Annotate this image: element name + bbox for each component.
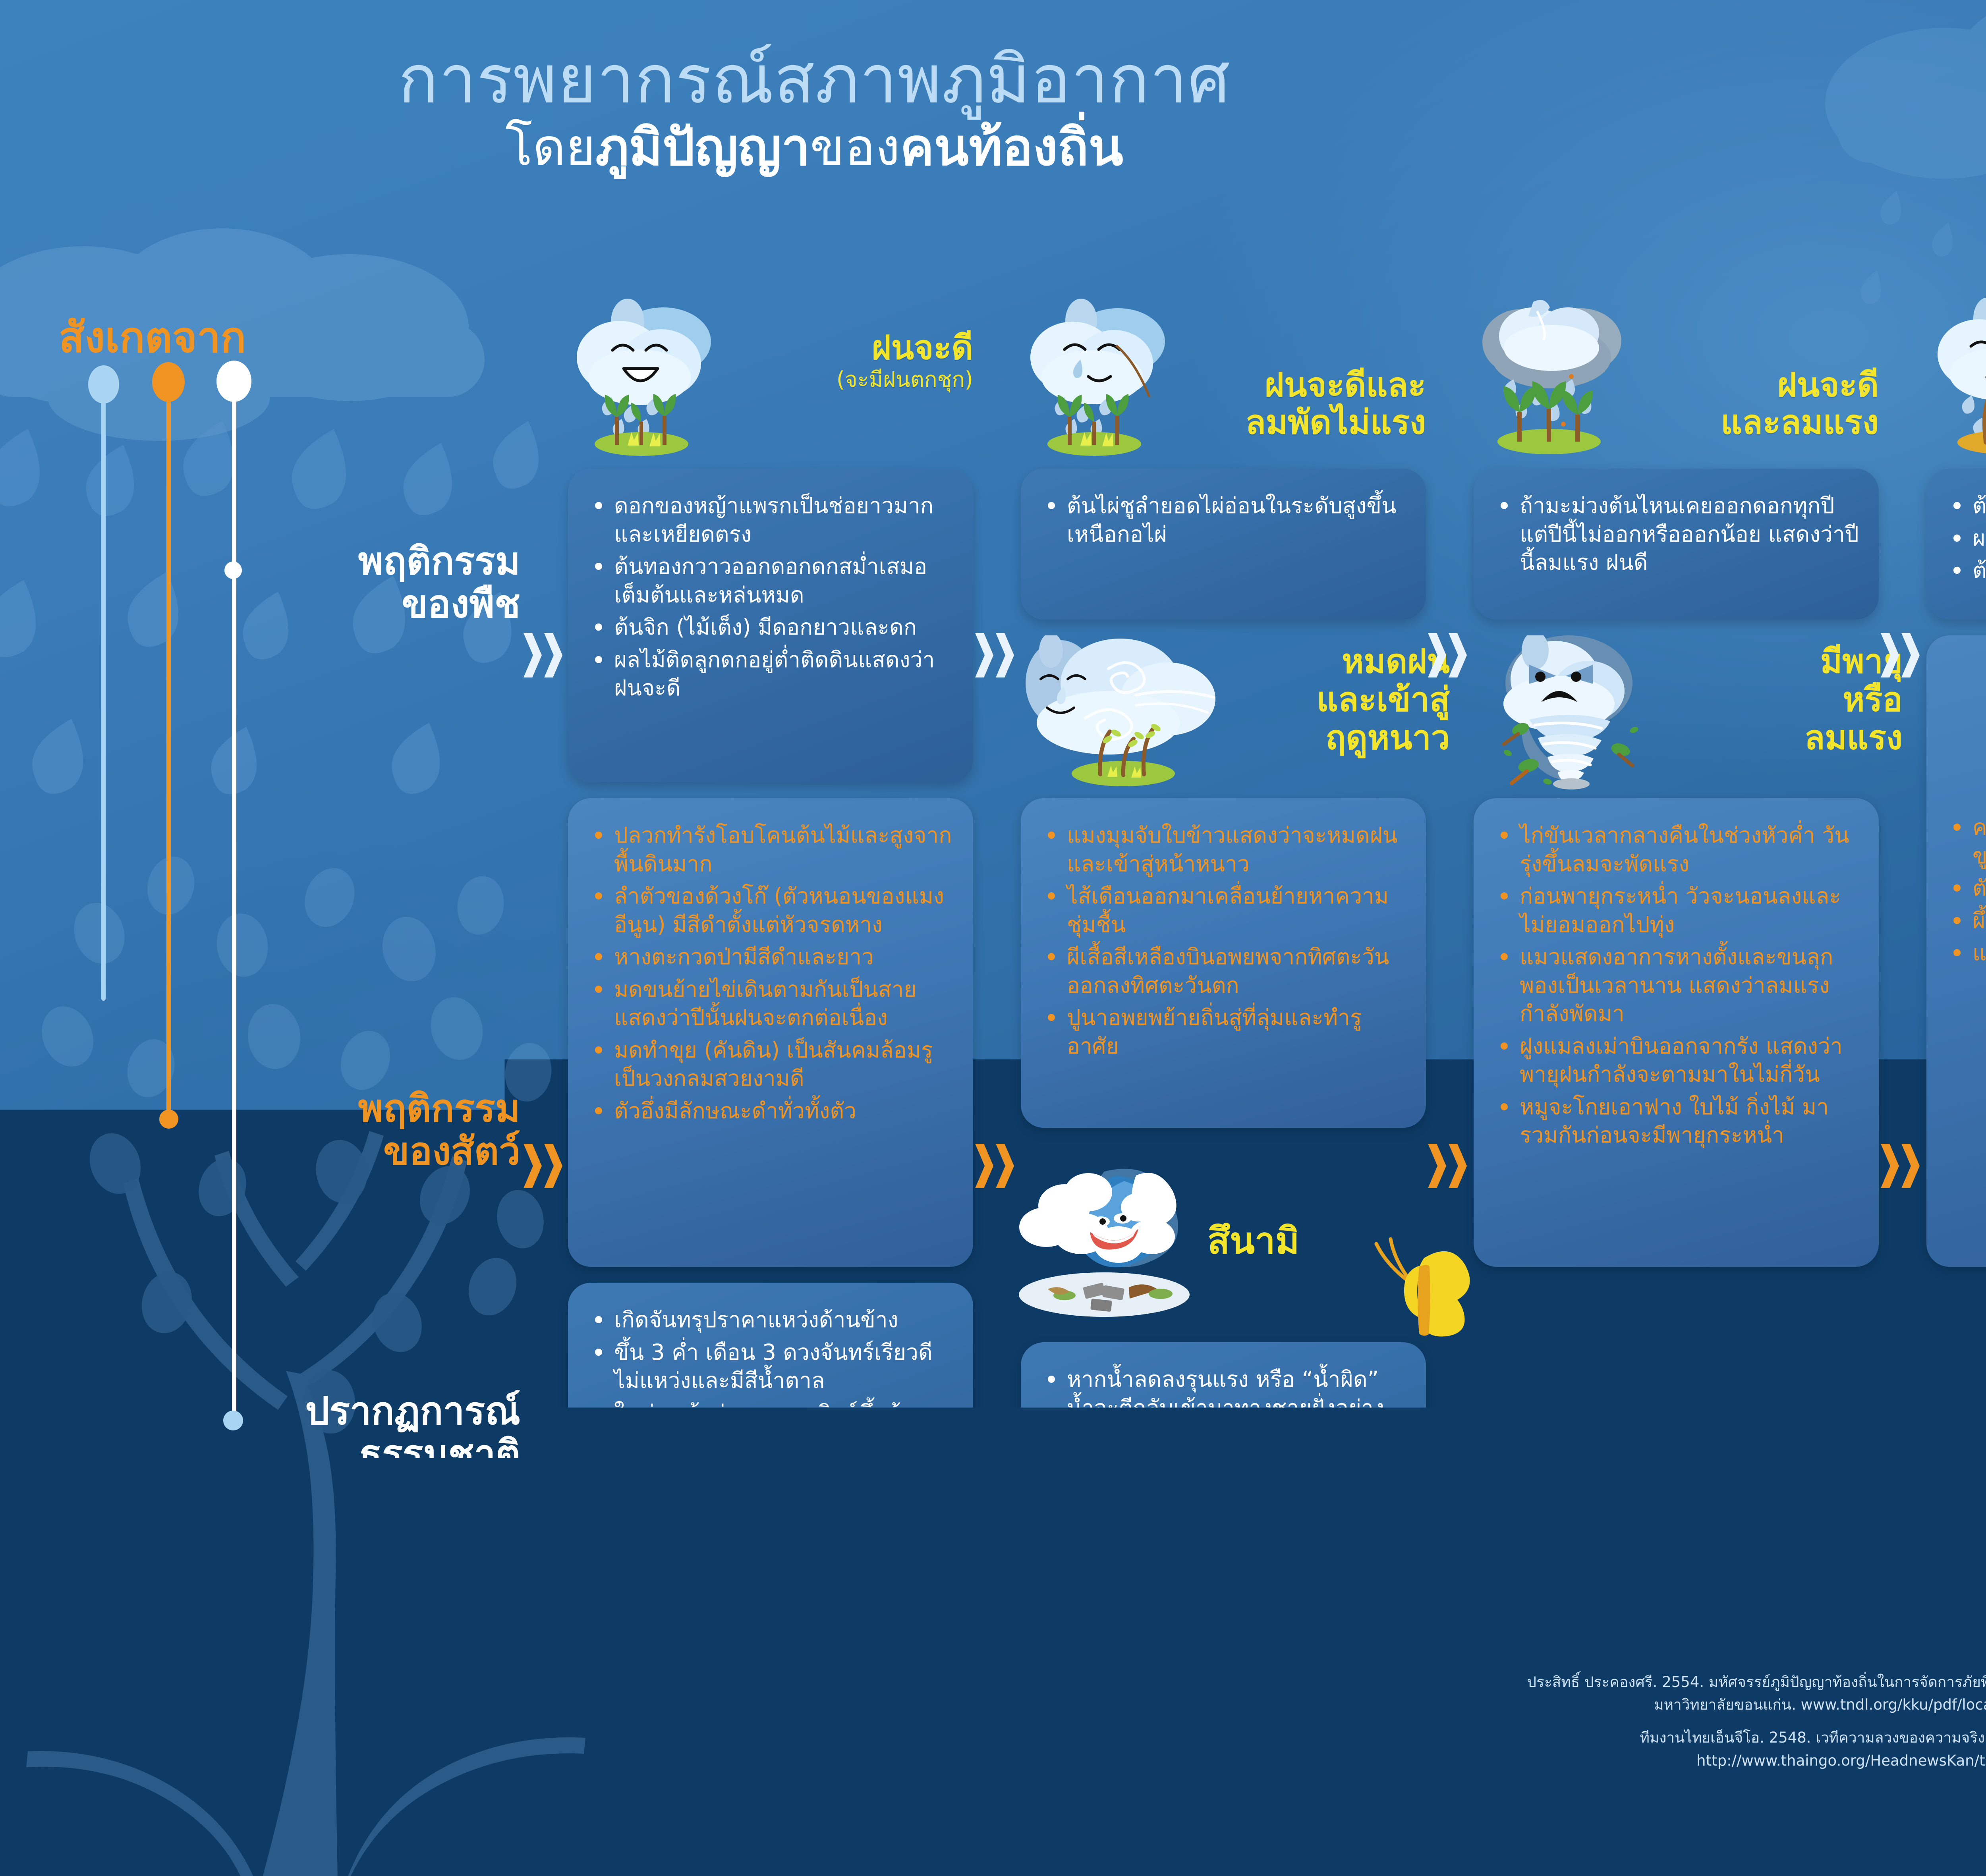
card-animals-col2: แมงมุมจับใบข้าวแสดงว่าจะหมดฝนและเข้าสู่ห…	[1021, 798, 1426, 1128]
page-header: การพยากรณ์สภาพภูมิอากาศ โดยภูมิปัญญาของค…	[0, 46, 1629, 176]
chevron-col4-animals	[1881, 1144, 1920, 1188]
list-item: ต้นจิก (ไม้เต็ง) มีดอกยาวและดก	[594, 613, 955, 642]
rail-item-plant-behaviour: พฤติกรรม ของพืช	[0, 540, 520, 625]
column-2-title-text: ฝนจะดีและ ลมพัดไม่แรง	[1245, 365, 1426, 442]
butterfly-icon	[1372, 1227, 1488, 1346]
list-item: ปลวกทำรังโอบโคนต้นไม้และสูงจากพื้นดินมาก	[594, 821, 955, 878]
plant-list-col2: ต้นไผ่ชูลำยอดไผ่อ่อนในระดับสูงขึ้นเหนือก…	[1047, 492, 1408, 548]
column-2-header: ฝนจะดีและ ลมพัดไม่แรง	[1021, 302, 1426, 469]
rail-animal-line1: พฤติกรรม	[0, 1087, 520, 1130]
plant-list-col3: ถ้ามะม่วงต้นไหนเคยออกดอกทุกปี แต่ปีนี้ไม…	[1500, 492, 1860, 577]
list-item: ดอกของหญ้าแพรกเป็นช่อยาวมากและเหยียดตรง	[594, 492, 955, 548]
column-1-subtitle: (จะมีฝนตกชุก)	[719, 368, 973, 392]
chevron-col4-plants	[1881, 633, 1920, 677]
rail-stem-plants	[101, 397, 106, 1001]
column-3-title-text: ฝนจะดี และลมแรง	[1721, 365, 1879, 442]
column-bad-rain: ฝนจะไม่ดี (ฝนตกน้อย มีน้ำน้อย) ต้นมะขามอ…	[1926, 302, 1986, 469]
card-nature-col1: เกิดจันทรุปราคาแหว่งด้านข้าง ขึ้น 3 ค่ำ …	[568, 1283, 973, 1577]
subtitle-prefix: โดย	[505, 118, 595, 177]
card-nature-col2: หากน้ำลดลงรุนแรง หรือ “น้ำผิด” น้ำจะตีกล…	[1021, 1342, 1426, 1577]
nature-list-col2: หากน้ำลดลงรุนแรง หรือ “น้ำผิด” น้ำจะตีกล…	[1047, 1365, 1408, 1479]
list-item: ตัวอึ่งมีลักษณะดำไม่ทั่วตัว	[1953, 874, 1986, 903]
chevron-row-animals	[524, 1144, 562, 1188]
list-item: ต้นทองกวาวออกดอกดกสม่ำเสมอเต็มต้นและหล่น…	[594, 552, 955, 609]
page-title: การพยากรณ์สภาพภูมิอากาศ	[0, 46, 1629, 114]
chevron-col3-plants	[1428, 633, 1467, 677]
source-ref-2-line-1: ทีมงานไทยเอ็นจีโอ. 2548. เวทีความลวงของค…	[1640, 1729, 1986, 1746]
source-heading: ที่มา :	[1360, 1645, 1986, 1668]
list-item: หากน้ำลดลงรุนแรง หรือ “น้ำผิด” น้ำจะตีกล…	[1047, 1365, 1408, 1479]
rail-knob-animals	[152, 362, 185, 402]
list-item: ผีเสื้อสีเหลืองบินอพยพจากทิศตะวันออกลงทิ…	[1047, 943, 1408, 1000]
source-ref-1-line-2: มหาวิทยาลัยขอนแก่น. www.tndl.org/kku/pdf…	[1654, 1696, 1986, 1713]
happy-rain-cloud-icon	[568, 298, 723, 457]
forecast-columns: ฝนจะดี (จะมีฝนตกชุก) ดอกของหญ้าแพรกเป็นช…	[568, 302, 1986, 1676]
column-3-header: ฝนจะดี และลมแรง	[1474, 302, 1879, 469]
source-ref-1-line-1: ประสิทธิ์ ประคองศรี. 2554. มหัศจรรย์ภูมิ…	[1527, 1673, 1986, 1691]
animal-list-col2: แมงมุมจับใบข้าวแสดงว่าจะหมดฝนและเข้าสู่ห…	[1047, 821, 1408, 1060]
column-1-header: ฝนจะดี (จะมีฝนตกชุก)	[568, 302, 973, 469]
subtitle-bold-locals: คนท้องถิ่น	[900, 118, 1123, 177]
chevron-row-plants	[524, 633, 562, 677]
list-item: ฝูงแมลงเม่าบินออกจากรัง แสดงว่าพายุฝนกำล…	[1500, 1032, 1860, 1089]
column-1-title: ฝนจะดี (จะมีฝนตกชุก)	[719, 329, 973, 392]
list-item: ผลไม้ติดลูกดกอยู่ต่ำติดดินแสดงว่าฝนจะดี	[594, 646, 955, 703]
card-animals-col1: ปลวกทำรังโอบโคนต้นไม้และสูงจากพื้นดินมาก…	[568, 798, 973, 1267]
card-plants-col4: ต้นมะขามออกดอกมาก ผลกะทกรกมีขนหุ้มมาก ต้…	[1926, 469, 1986, 620]
tsunami-wave-icon	[1005, 1148, 1211, 1318]
crying-rain-cloud-icon	[1021, 298, 1176, 457]
list-item: ลำตัวของด้วงโก๊ (ตัวหนอนของแมงอีนูน) มีส…	[594, 882, 955, 939]
list-item: มดทำขุย (คันดิน) เป็นสันคมล้อมรูเป็นวงกล…	[594, 1036, 955, 1093]
list-item: ไส้เดือนออกมาเคลื่อนย้ายหาความชุ่มชื้น	[1047, 882, 1408, 939]
list-item: แมงดาวางไข่ต่ำ	[1953, 939, 1986, 967]
rail-animal-line2: ของสัตว์	[0, 1130, 520, 1173]
column-2-title: ฝนจะดีและ ลมพัดไม่แรง	[1172, 329, 1426, 441]
subtitle-mid: ของ	[810, 118, 900, 177]
column-4-header: ฝนจะไม่ดี (ฝนตกน้อย มีน้ำน้อย)	[1926, 302, 1986, 469]
banner-storm: มีพายุ หรือ ลมแรง	[1474, 635, 1895, 794]
source-citations: ที่มา : ประสิทธิ์ ประคองศรี. 2554. มหัศจ…	[1360, 1645, 1986, 1782]
card-plants-col3: ถ้ามะม่วงต้นไหนเคยออกดอกทุกปี แต่ปีนี้ไม…	[1474, 469, 1879, 620]
rail-plant-line2: ของพืช	[0, 583, 520, 626]
column-good-rain: ฝนจะดี (จะมีฝนตกชุก) ดอกของหญ้าแพรกเป็นช…	[568, 302, 973, 469]
list-item: ต้นไผ่ชูลำยอดไผ่อ่อนในระดับสูงขึ้นเหนือก…	[1047, 492, 1408, 548]
chevron-col2-animals	[975, 1144, 1014, 1188]
tsunami-label: สึนามิ	[1207, 1211, 1299, 1270]
card-animals-col4: ควายเมื่อปล่อยจากคอกเอาเท้าหน้าขูดดินทิศ…	[1926, 635, 1986, 1267]
animal-list-col3: ไก่ขันเวลากลางคืนในช่วงหัวค่ำ วันรุ่งขึ้…	[1500, 821, 1860, 1150]
column-good-rain-light-wind: ฝนจะดีและ ลมพัดไม่แรง ต้นไผ่ชูลำยอดไผ่อ่…	[1021, 302, 1426, 469]
column-3-title: ฝนจะดี และลมแรง	[1625, 329, 1879, 441]
list-item: ถ้ามะม่วงต้นไหนเคยออกดอกทุกปี แต่ปีนี้ไม…	[1500, 492, 1860, 577]
list-item: ควายเมื่อปล่อยจากคอกเอาเท้าหน้าขูดดินทิศ…	[1953, 813, 1986, 870]
tornado-icon	[1470, 635, 1676, 790]
banner-label-storm: มีพายุ หรือ ลมแรง	[1696, 643, 1903, 757]
list-item: ก่อนพายุกระหน่ำ วัวจะนอนลงและไม่ยอมออกไป…	[1500, 882, 1860, 939]
card-plants-col1: ดอกของหญ้าแพรกเป็นช่อยาวมากและเหยียดตรง …	[568, 469, 973, 782]
plant-list-col4: ต้นมะขามออกดอกมาก ผลกะทกรกมีขนหุ้มมาก ต้…	[1953, 492, 1986, 585]
list-item: ต้นมะขามออกดอกมาก	[1953, 492, 1986, 520]
list-item: หางตะกวดป่ามีสีดำและยาว	[594, 943, 955, 971]
windy-sleepy-cloud-icon	[1017, 635, 1223, 790]
column-1-title-text: ฝนจะดี	[871, 328, 973, 367]
source-ref-2-line-2: http://www.thaingo.org/HeadnewsKan/tsuna…	[1696, 1752, 1986, 1769]
subtitle-bold-wisdom: ภูมิปัญญา	[595, 118, 810, 177]
list-item: แมวแสดงอาการหางตั้งและขนลุกพองเป็นเวลานา…	[1500, 943, 1860, 1028]
card-plants-col2: ต้นไผ่ชูลำยอดไผ่อ่อนในระดับสูงขึ้นเหนือก…	[1021, 469, 1426, 620]
column-good-rain-strong-wind: ฝนจะดี และลมแรง ถ้ามะม่วงต้นไหนเคยออกดอก…	[1474, 302, 1879, 469]
list-item: ต้นบกมีผลดกเต็มต้น	[1953, 556, 1986, 585]
list-item: ผึ้งทำรังต่ำ	[1953, 907, 1986, 935]
animal-list-col1: ปลวกทำรังโอบโคนต้นไม้และสูงจากพื้นดินมาก…	[594, 821, 955, 1125]
list-item: ไก่ขันเวลากลางคืนในช่วงหัวค่ำ วันรุ่งขึ้…	[1500, 821, 1860, 878]
chevron-col2-plants	[975, 633, 1014, 677]
list-item: ขึ้น 3 ค่ำ เดือน 3 ดวงจันทร์เรียวดี ไม่แ…	[594, 1338, 955, 1395]
chevron-row-nature	[524, 1565, 562, 1609]
rail-knob-nature	[216, 361, 251, 402]
list-item: ในช่วงเช้าก่อนพระอาทิตย์ขึ้นก้อนเมฆมีลัก…	[594, 1399, 955, 1484]
list-item: หมูจะโกยเอาฟาง ใบไม้ กิ่งไม้ มารวมกันก่อ…	[1500, 1093, 1860, 1150]
plant-list-col1: ดอกของหญ้าแพรกเป็นช่อยาวมากและเหยียดตรง …	[594, 492, 955, 703]
sad-rain-cloud-icon	[1926, 298, 1986, 457]
animal-list-col4: ควายเมื่อปล่อยจากคอกเอาเท้าหน้าขูดดินทิศ…	[1953, 813, 1986, 967]
list-item: ตัวอึ่งมีลักษณะดำทั่วทั้งตัว	[594, 1097, 955, 1125]
banner-end-of-rain: หมดฝน และเข้าสู่ ฤดูหนาว	[1021, 635, 1442, 794]
page-subtitle: โดยภูมิปัญญาของคนท้องถิ่น	[0, 119, 1629, 176]
list-item: ผลกะทกรกมีขนหุ้มมาก	[1953, 524, 1986, 553]
observation-rail: สังเกตจาก พฤติกรรม ของพืช พฤติกรรม ของสั…	[0, 302, 564, 1672]
source-ref-2: ทีมงานไทยเอ็นจีโอ. 2548. เวทีความลวงของค…	[1360, 1726, 1986, 1772]
rail-item-animal-behaviour: พฤติกรรม ของสัตว์	[0, 1087, 520, 1173]
rail-stem-animals	[166, 396, 171, 1115]
rail-nature-line2: ธรรมชาติ	[0, 1433, 520, 1476]
card-animals-col3: ไก่ขันเวลากลางคืนในช่วงหัวค่ำ วันรุ่งขึ้…	[1474, 798, 1879, 1267]
observe-from-label: สังเกตจาก	[59, 303, 246, 371]
rail-item-natural-phenomena: ปรากฏการณ์ ธรรมชาติ	[0, 1390, 520, 1475]
list-item: แมงมุมจับใบข้าวแสดงว่าจะหมดฝนและเข้าสู่ห…	[1047, 821, 1408, 878]
chevron-col2-nature	[975, 1565, 1014, 1609]
source-ref-1: ประสิทธิ์ ประคองศรี. 2554. มหัศจรรย์ภูมิ…	[1360, 1671, 1986, 1716]
banner-label-end-of-rain: หมดฝน และเข้าสู่ ฤดูหนาว	[1243, 643, 1450, 757]
rail-plant-line1: พฤติกรรม	[0, 540, 520, 583]
rail-nature-line1: ปรากฏการณ์	[0, 1390, 520, 1433]
chevron-col3-animals	[1428, 1144, 1467, 1188]
nature-list-col1: เกิดจันทรุปราคาแหว่งด้านข้าง ขึ้น 3 ค่ำ …	[594, 1306, 955, 1484]
storm-cloud-icon	[1474, 298, 1629, 457]
list-item: มดขนย้ายไข่เดินตามกันเป็นสายแสดงว่าปีนั้…	[594, 975, 955, 1032]
list-item: ปูนาอพยพย้ายถิ่นสู่ที่ลุ่มและทำรูอาศัย	[1047, 1004, 1408, 1060]
list-item: เกิดจันทรุปราคาแหว่งด้านข้าง	[594, 1306, 955, 1334]
